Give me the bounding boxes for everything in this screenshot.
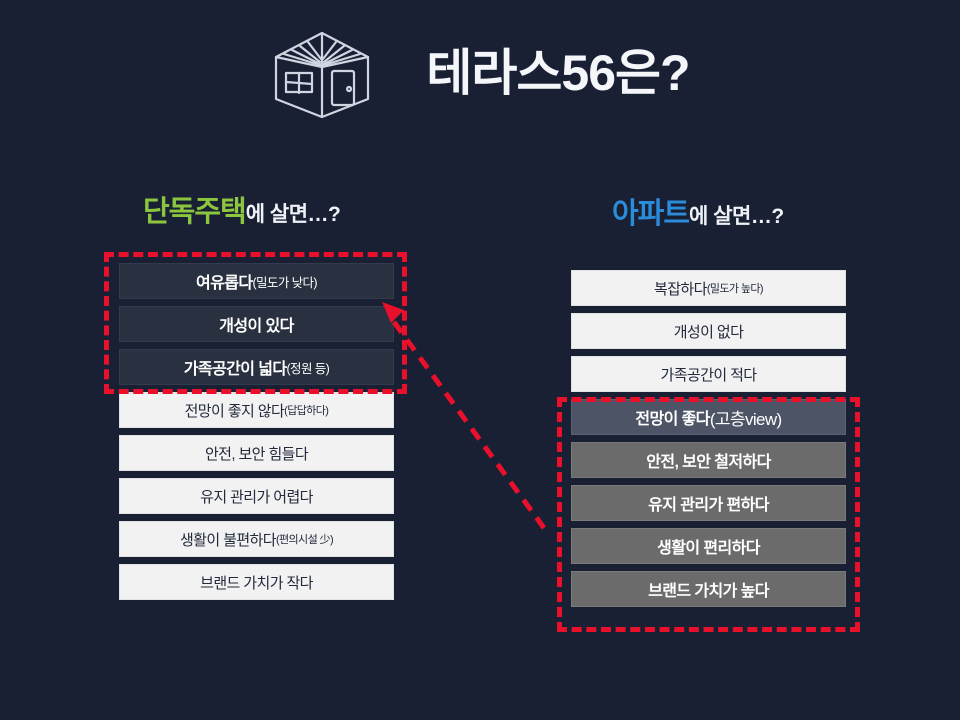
header-rest-right: 에 살면…? (689, 205, 784, 228)
list-item-note: (답답하다) (284, 402, 328, 418)
list-item-note: (밀도가 낮다) (252, 272, 317, 291)
column-header-detached-house: 단독주택에 살면…? (143, 198, 340, 227)
open-house-terrace-icon (270, 27, 374, 123)
list-item: 안전, 보안 철저하다 (571, 442, 846, 478)
list-item-note: (고층view) (710, 405, 782, 430)
list-item-label: 유지 관리가 편하다 (648, 491, 769, 515)
list-item: 가족공간이 넓다(정원 등) (119, 349, 394, 385)
page-title: 테라스56은? (426, 48, 689, 102)
list-item-label: 가족공간이 넓다 (184, 355, 287, 379)
list-item: 전망이 좋지 않다(답답하다) (119, 392, 394, 428)
list-item-note: (밀도가 높다) (707, 280, 763, 296)
list-item: 가족공간이 적다 (571, 356, 846, 392)
list-item-label: 가족공간이 적다 (661, 364, 757, 385)
list-item: 개성이 있다 (119, 306, 394, 342)
list-item: 여유롭다 (밀도가 낮다) (119, 263, 394, 299)
list-item: 전망이 좋다(고층view) (571, 399, 846, 435)
list-item-label: 브랜드 가치가 작다 (200, 572, 313, 593)
list-item: 유지 관리가 어렵다 (119, 478, 394, 514)
list-item: 개성이 없다 (571, 313, 846, 349)
list-item: 생활이 편리하다 (571, 528, 846, 564)
header-rest-left: 에 살면…? (246, 203, 341, 226)
list-detached-house: 여유롭다 (밀도가 낮다)개성이 있다가족공간이 넓다(정원 등)전망이 좋지 … (119, 263, 394, 600)
connector-arrow (380, 300, 580, 550)
list-item-label: 여유롭다 (196, 269, 252, 293)
header-accent-left: 단독주택 (143, 196, 246, 228)
list-item-label: 전망이 좋다 (635, 405, 709, 429)
slide-title-row: 테라스56은? (0, 20, 960, 130)
list-item-label: 생활이 편리하다 (657, 534, 760, 558)
list-item: 복잡하다(밀도가 높다) (571, 270, 846, 306)
list-item-label: 안전, 보안 철저하다 (646, 448, 771, 472)
list-item-label: 복잡하다 (654, 278, 707, 299)
list-apartment: 복잡하다(밀도가 높다)개성이 없다가족공간이 적다전망이 좋다(고층view)… (571, 270, 846, 607)
list-item-note: (정원 등) (286, 358, 329, 377)
list-item-label: 개성이 있다 (219, 312, 293, 336)
list-item: 브랜드 가치가 높다 (571, 571, 846, 607)
list-item: 브랜드 가치가 작다 (119, 564, 394, 600)
list-item-note: (편의시설 少) (276, 531, 333, 547)
header-accent-right: 아파트 (612, 198, 689, 230)
column-header-apartment: 아파트에 살면…? (612, 200, 784, 229)
list-item: 유지 관리가 편하다 (571, 485, 846, 521)
list-item-label: 생활이 불편하다 (180, 529, 276, 550)
slide-canvas: 테라스56은? 단독주택에 살면…? 아파트에 살면…? 여유롭다 (밀도가 낮… (0, 0, 960, 720)
list-item-label: 안전, 보안 힘들다 (205, 443, 308, 464)
list-item: 안전, 보안 힘들다 (119, 435, 394, 471)
list-item: 생활이 불편하다(편의시설 少) (119, 521, 394, 557)
list-item-label: 전망이 좋지 않다 (185, 400, 285, 421)
list-item-label: 개성이 없다 (674, 321, 744, 342)
list-item-label: 브랜드 가치가 높다 (648, 577, 769, 601)
list-item-label: 유지 관리가 어렵다 (200, 486, 313, 507)
